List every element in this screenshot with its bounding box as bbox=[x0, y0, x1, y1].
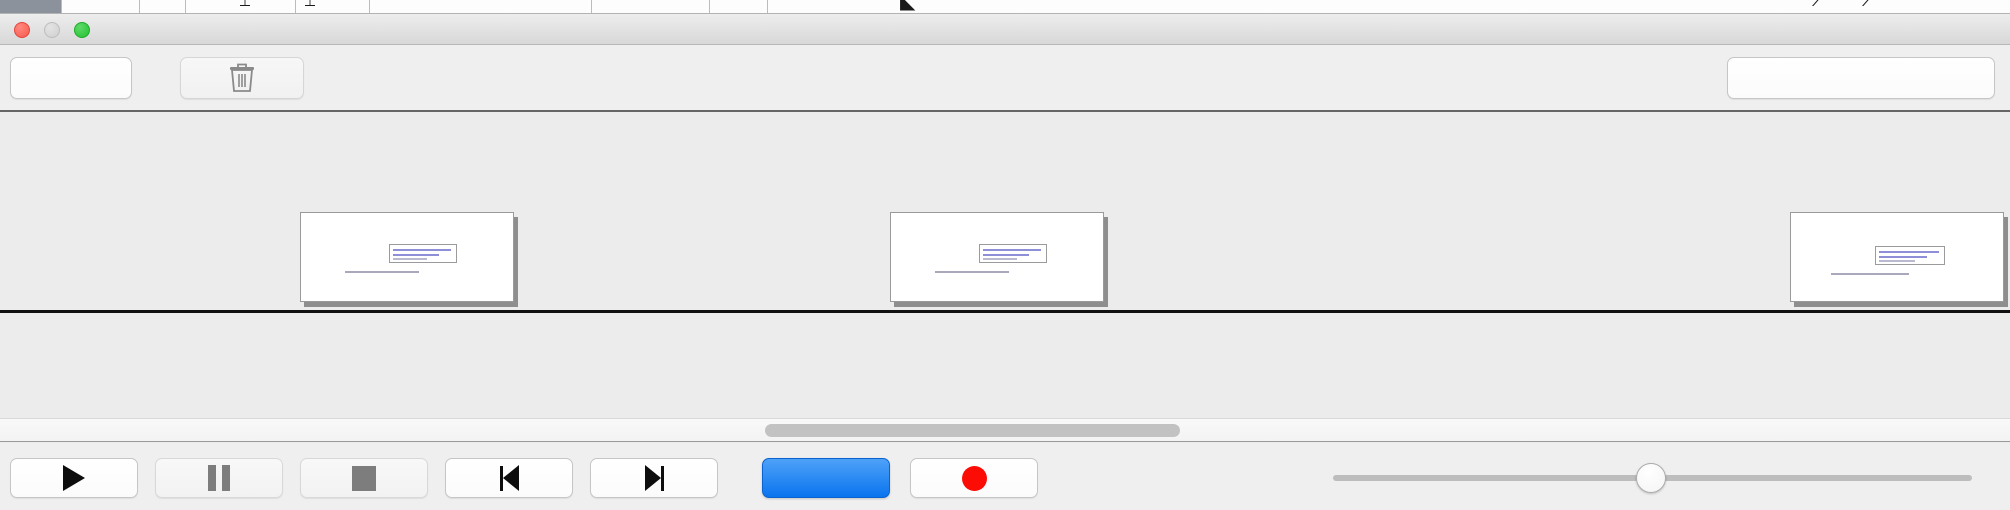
trash-icon bbox=[229, 63, 255, 93]
maximize-button[interactable] bbox=[74, 22, 90, 38]
stop-icon bbox=[352, 466, 376, 491]
annotation-box bbox=[1875, 246, 1945, 265]
stop-button[interactable] bbox=[300, 458, 428, 498]
add-frame-button[interactable] bbox=[10, 57, 132, 99]
scrollbar-thumb[interactable] bbox=[765, 424, 1180, 437]
play-button[interactable] bbox=[10, 458, 138, 498]
background-window-strip: ⌶ ⌶ ◣ ⟋ ⟋ bbox=[0, 0, 2010, 14]
timeline-horizontal-scrollbar[interactable] bbox=[0, 418, 2010, 442]
frame-preview bbox=[300, 212, 514, 302]
annotation-box bbox=[979, 244, 1047, 263]
frame-preview bbox=[890, 212, 1104, 302]
record-icon bbox=[962, 466, 987, 491]
annotation-box bbox=[389, 244, 457, 263]
ruler-axis-line bbox=[0, 310, 2010, 313]
skip-back-icon bbox=[500, 465, 519, 491]
delete-frame-button[interactable] bbox=[180, 57, 304, 99]
loop-button[interactable] bbox=[762, 458, 890, 498]
play-icon bbox=[63, 465, 85, 491]
clear-all-frames-button[interactable] bbox=[1727, 57, 1995, 99]
minimize-button[interactable] bbox=[44, 22, 60, 38]
timeline-frame-thumbnail[interactable] bbox=[890, 212, 1108, 307]
skip-forward-icon bbox=[645, 465, 664, 491]
frame-preview bbox=[1790, 212, 2004, 302]
skip-to-end-button[interactable] bbox=[590, 458, 718, 498]
skip-to-start-button[interactable] bbox=[445, 458, 573, 498]
timeline-frame-thumbnail[interactable] bbox=[300, 212, 518, 307]
pause-icon bbox=[208, 465, 230, 491]
window-controls bbox=[14, 22, 90, 38]
cyanimator-window: ⌶ ⌶ ◣ ⟋ ⟋ bbox=[0, 0, 2010, 510]
pause-button[interactable] bbox=[155, 458, 283, 498]
timeline-frame-thumbnail[interactable] bbox=[1790, 212, 2008, 307]
slider-thumb[interactable] bbox=[1636, 463, 1666, 493]
title-bar bbox=[0, 14, 2010, 45]
frame-toolbar bbox=[0, 45, 2010, 112]
close-button[interactable] bbox=[14, 22, 30, 38]
animation-speed-slider[interactable] bbox=[1333, 458, 1972, 498]
record-button[interactable] bbox=[910, 458, 1038, 498]
timeline-ruler[interactable] bbox=[0, 310, 2010, 418]
